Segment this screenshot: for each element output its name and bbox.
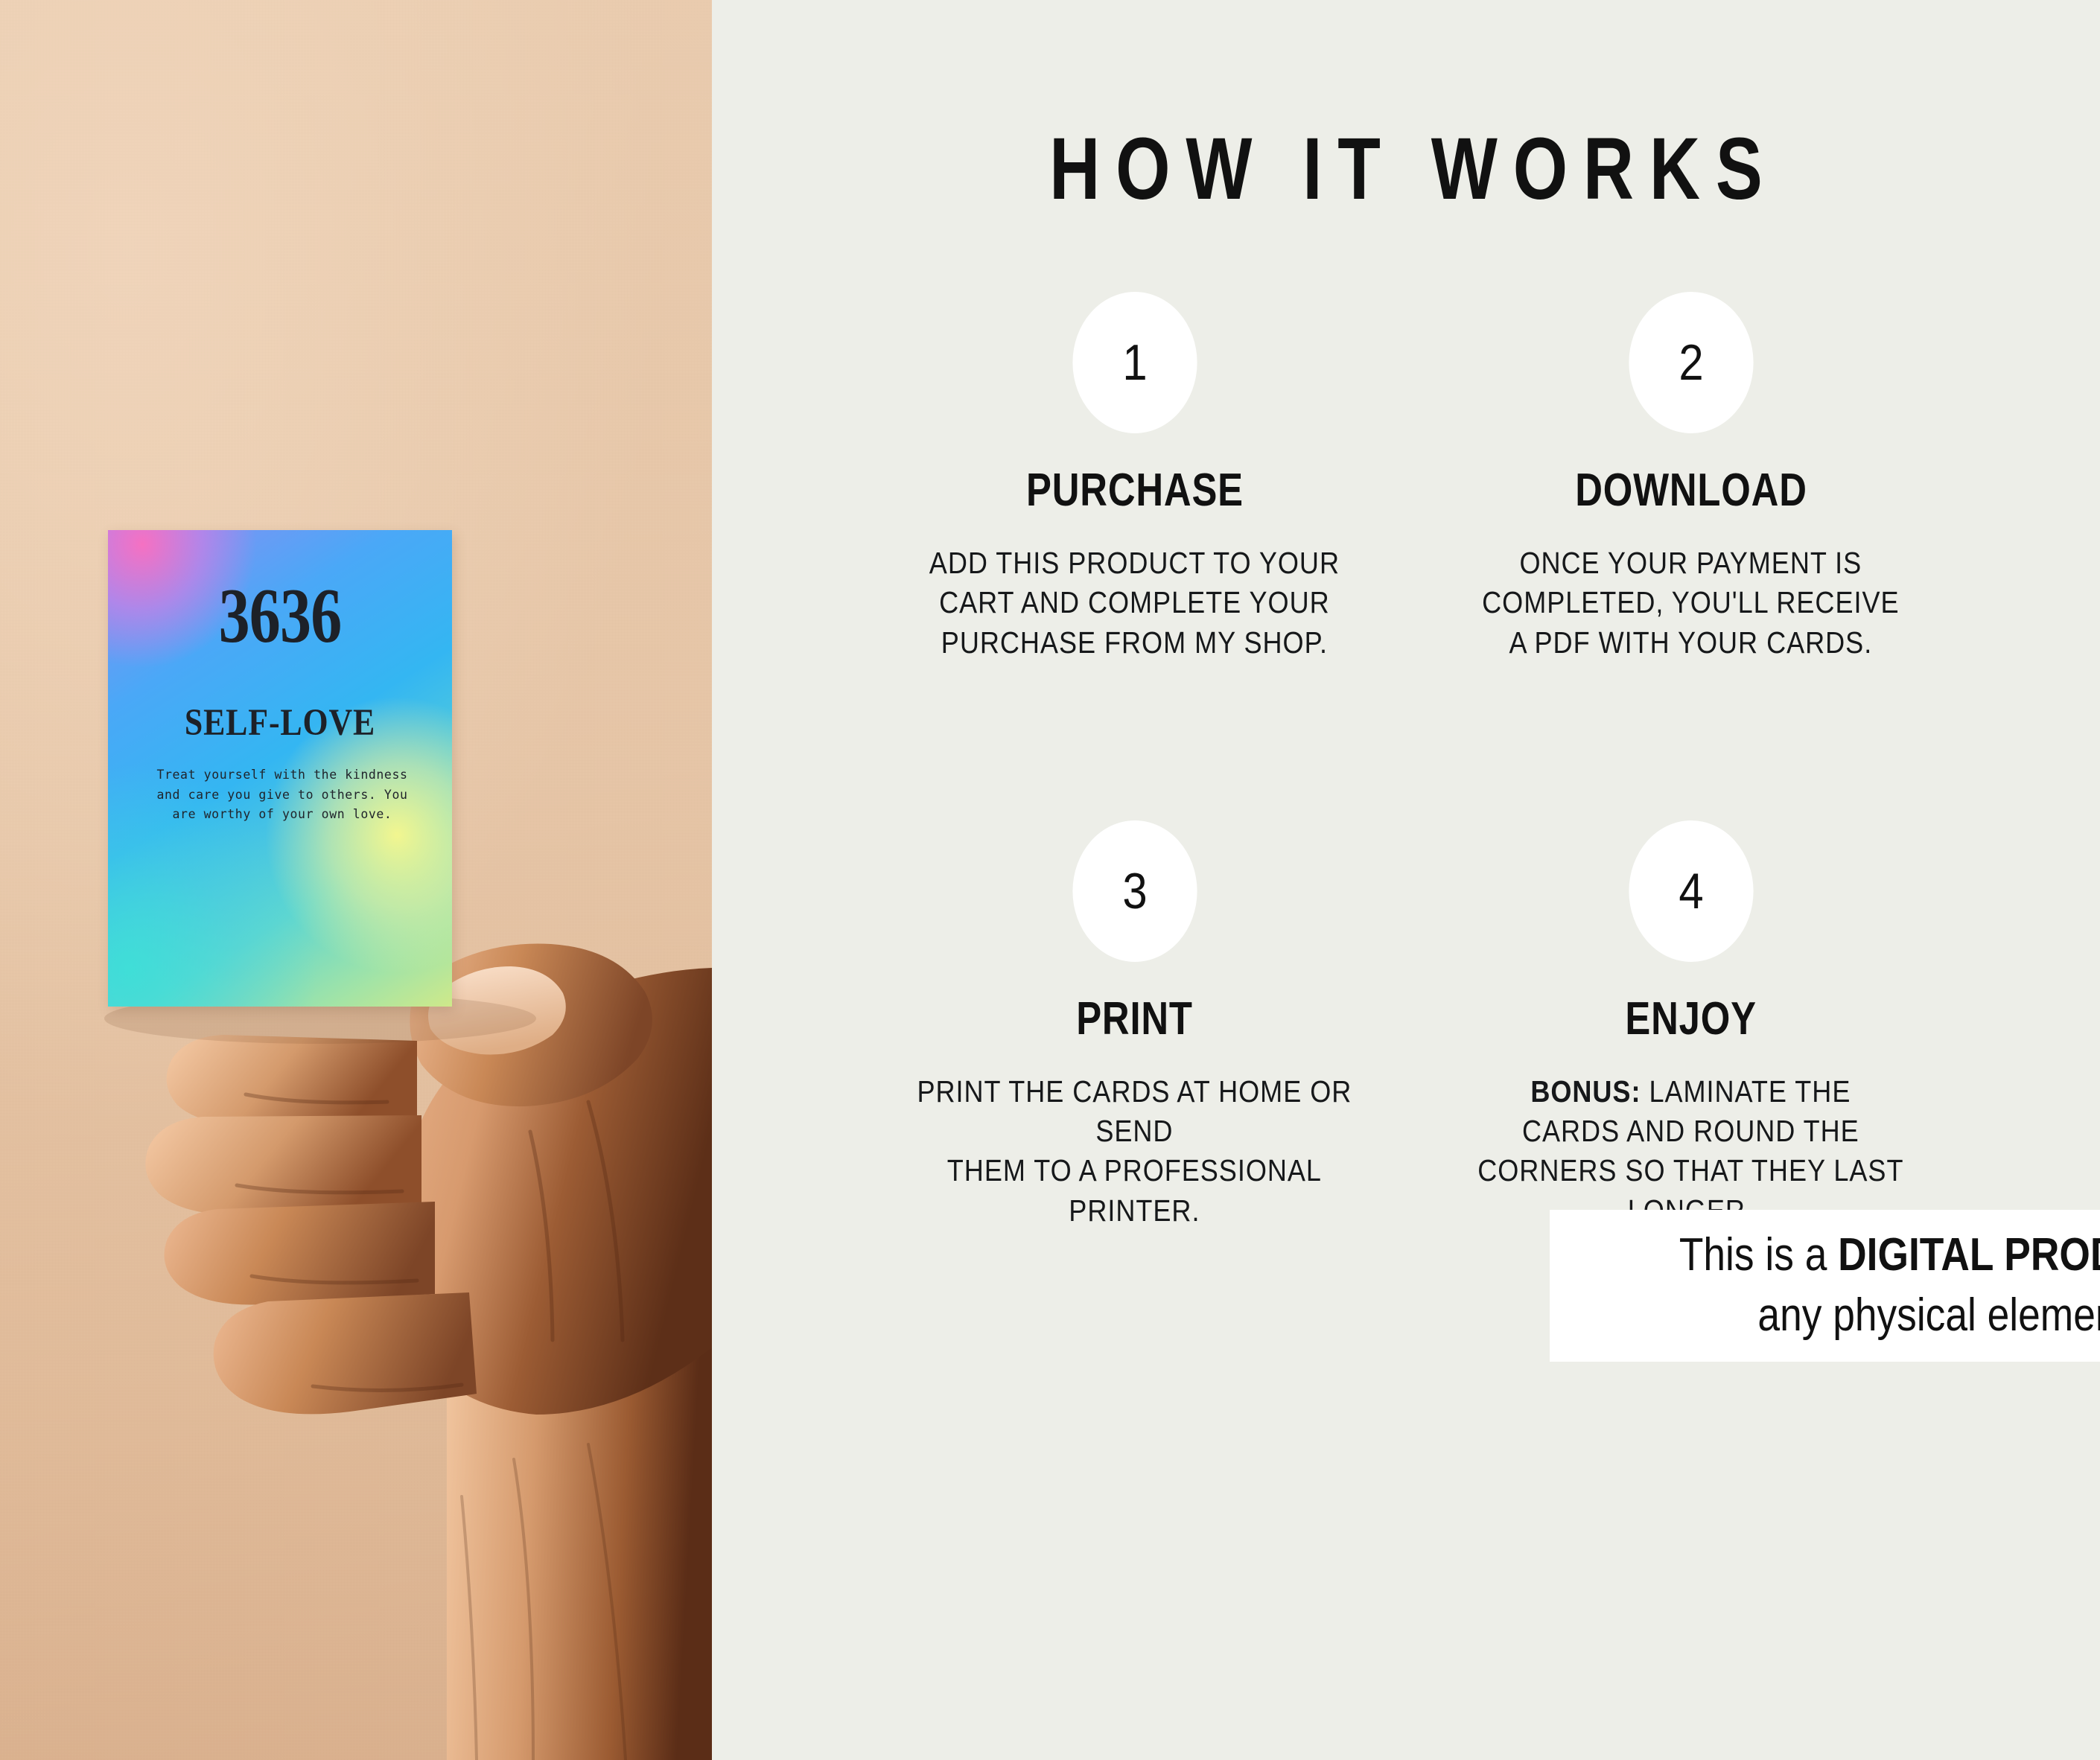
step-description: BONUS: LAMINATE THE CARDS AND ROUND THE …: [1446, 1072, 1935, 1231]
step-number-badge: 1: [1072, 292, 1197, 433]
card-affirmation-text: Treat yourself with the kindness and car…: [153, 765, 412, 825]
step-description-line: CART AND COMPLETE YOUR: [900, 583, 1369, 622]
info-panel: HOW IT WORKS 1 PURCHASE ADD THIS PRODUCT…: [712, 0, 2100, 1760]
step-description-line: CORNERS SO THAT THEY LAST: [1446, 1151, 1935, 1190]
page-root: 3636 SELF-LOVE Treat yourself with the k…: [0, 0, 2100, 1760]
banner-line1-pre: This is a: [1679, 1229, 1838, 1281]
step-print: 3 PRINT PRINT THE CARDS AT HOME OR SEND …: [856, 820, 1413, 1231]
steps-row-spacer: [856, 663, 1969, 820]
step-description-line: PURCHASE FROM MY SHOP.: [900, 623, 1369, 663]
steps-grid: 1 PURCHASE ADD THIS PRODUCT TO YOUR CART…: [856, 292, 1969, 1231]
step-number-badge: 2: [1629, 292, 1753, 433]
step-label: PURCHASE: [1026, 468, 1244, 514]
step-description-line-with-bonus: BONUS: LAMINATE THE: [1446, 1072, 1935, 1112]
step-number-badge: 3: [1072, 820, 1197, 962]
step-number-badge: 4: [1629, 820, 1753, 962]
step-description-line: CARDS AND ROUND THE: [1446, 1112, 1935, 1151]
step-description: PRINT THE CARDS AT HOME OR SEND THEM TO …: [900, 1072, 1369, 1231]
step-description-line: ADD THIS PRODUCT TO YOUR: [900, 543, 1369, 583]
step-label: DOWNLOAD: [1575, 468, 1807, 514]
banner-emphasis: DIGITAL PRODUCT.: [1838, 1229, 2100, 1281]
step-enjoy: 4 ENJOY BONUS: LAMINATE THE CARDS AND RO…: [1413, 820, 1969, 1231]
card-title: SELF-LOVE: [132, 704, 427, 742]
step-description: ONCE YOUR PAYMENT IS COMPLETED, YOU'LL R…: [1446, 543, 1935, 663]
step-description: ADD THIS PRODUCT TO YOUR CART AND COMPLE…: [900, 543, 1369, 663]
page-title: HOW IT WORKS: [850, 125, 1961, 213]
step-description-line: COMPLETED, YOU'LL RECEIVE: [1446, 583, 1935, 622]
steps-row-top: 1 PURCHASE ADD THIS PRODUCT TO YOUR CART…: [856, 292, 1969, 663]
banner-line-1: This is a DIGITAL PRODUCT. You will not …: [1679, 1225, 2100, 1286]
product-photo: 3636 SELF-LOVE Treat yourself with the k…: [0, 0, 712, 1760]
card-angel-number: 3636: [142, 576, 418, 654]
bonus-prefix: BONUS:: [1530, 1074, 1641, 1109]
affirmation-card: 3636 SELF-LOVE Treat yourself with the k…: [108, 530, 452, 1007]
banner-line-2: any physical elements with this purchase: [1679, 1286, 2100, 1346]
step-purchase: 1 PURCHASE ADD THIS PRODUCT TO YOUR CART…: [856, 292, 1413, 663]
step-download: 2 DOWNLOAD ONCE YOUR PAYMENT IS COMPLETE…: [1413, 292, 1969, 663]
step-description-line: THEM TO A PROFESSIONAL PRINTER.: [900, 1151, 1369, 1231]
step-description-line: ONCE YOUR PAYMENT IS: [1446, 543, 1935, 583]
steps-row-bottom: 3 PRINT PRINT THE CARDS AT HOME OR SEND …: [856, 820, 1969, 1231]
step-description-line: PRINT THE CARDS AT HOME OR SEND: [900, 1072, 1369, 1152]
digital-product-banner: This is a DIGITAL PRODUCT. You will not …: [1550, 1210, 2100, 1362]
step-label: PRINT: [1076, 996, 1193, 1042]
digital-product-banner-text: This is a DIGITAL PRODUCT. You will not …: [1679, 1225, 2100, 1345]
step-description-line: A PDF WITH YOUR CARDS.: [1446, 623, 1935, 663]
step-description-line: LAMINATE THE: [1649, 1074, 1851, 1109]
step-label: ENJOY: [1625, 996, 1756, 1042]
